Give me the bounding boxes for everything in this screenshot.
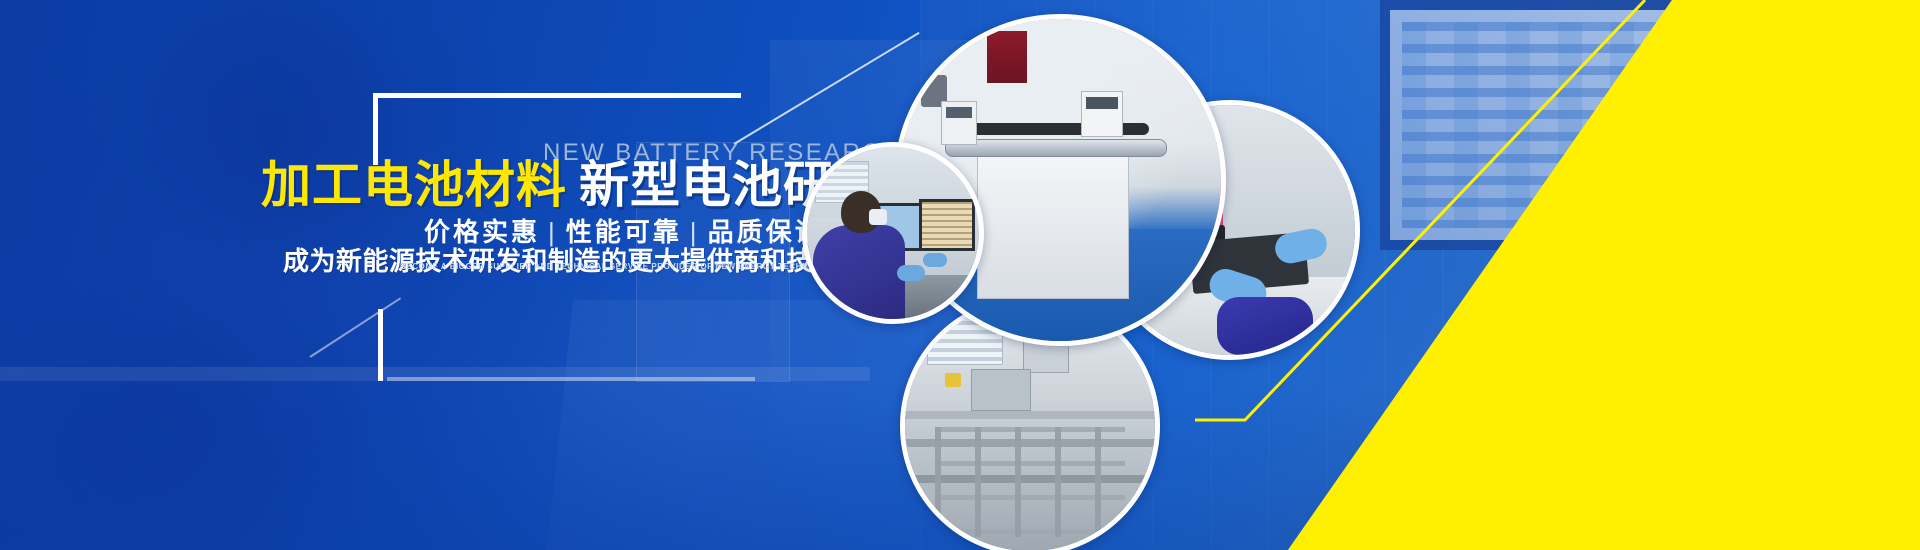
line-rails [905,411,1155,419]
operator-workstation-photo [802,142,984,324]
fire-cabinet [987,31,1027,83]
line-unit [971,369,1031,411]
line-yellow-part [945,373,961,387]
worker-sleeve [1217,297,1313,355]
machine-control-panel-left [941,101,977,145]
operator-uniform [813,225,905,319]
operator-glove-left [897,265,925,281]
gloved-hand-right [1272,226,1329,266]
machine-body [977,147,1129,299]
face-mask [869,209,887,225]
machine-control-panel-right [1081,91,1123,137]
operator-glove-right [923,253,947,267]
line-frame-structure [935,427,1125,537]
promo-banner: NEW BATTERY RESEARCH 加工电池材料新型电池研究 价格实惠|性… [0,0,1920,550]
monitor-right [919,199,975,251]
